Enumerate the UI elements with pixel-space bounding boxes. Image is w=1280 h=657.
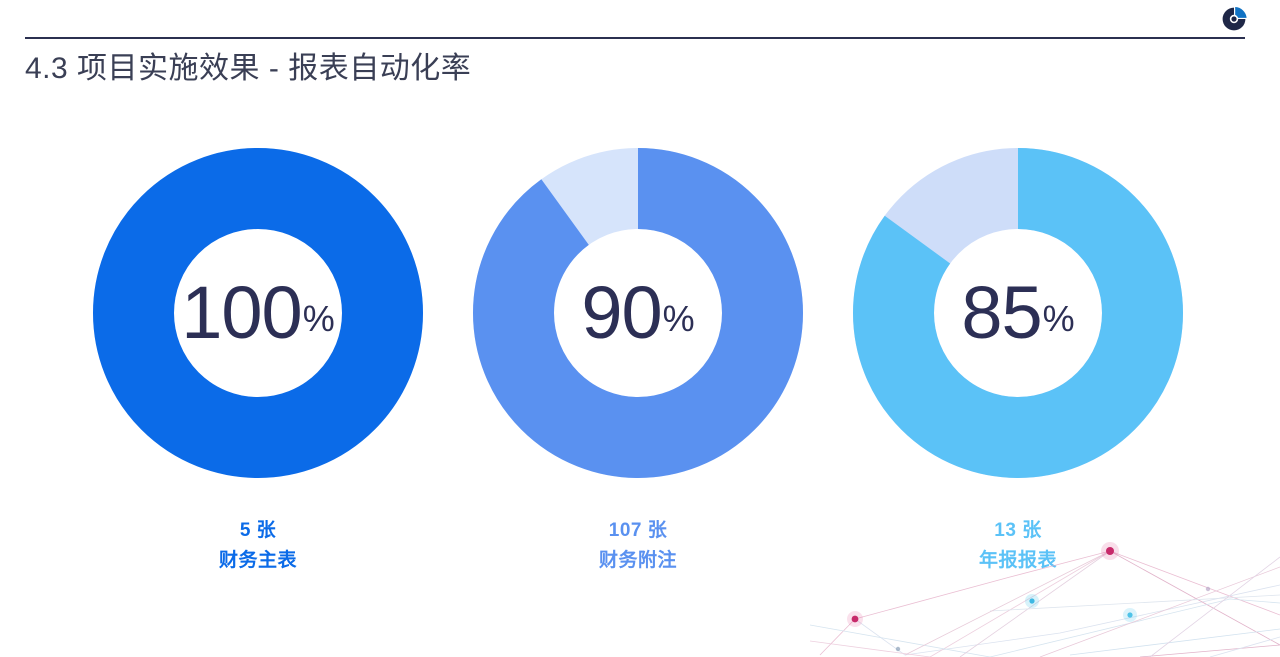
metric-caption-2: 107 张 财务附注 xyxy=(599,516,677,576)
slide-root: 4.3 项目实施效果 - 报表自动化率 100% 5 张 财务主表 xyxy=(0,0,1280,657)
metric-card-annual-report-statements: 85% 13 张 年报报表 xyxy=(828,148,1208,576)
metric-name-3: 年报报表 xyxy=(979,546,1057,576)
donut-chart-financial-notes: 90% xyxy=(473,148,803,478)
donut-arc-1 xyxy=(134,189,383,438)
metric-caption-3: 13 张 年报报表 xyxy=(979,516,1057,576)
metric-caption-1: 5 张 财务主表 xyxy=(219,516,297,576)
header-divider xyxy=(25,37,1245,39)
metric-card-financial-notes: 90% 107 张 财务附注 xyxy=(448,148,828,576)
metric-count-1: 5 张 xyxy=(219,516,297,546)
donut-chart-annual-report-statements: 85% xyxy=(853,148,1183,478)
pie-chart-logo-icon xyxy=(1221,6,1247,32)
donut-arc-2 xyxy=(514,189,763,438)
metric-name-2: 财务附注 xyxy=(599,546,677,576)
page-title: 4.3 项目实施效果 - 报表自动化率 xyxy=(25,49,471,89)
metric-card-financial-main-statements: 100% 5 张 财务主表 xyxy=(68,148,448,576)
metric-count-2: 107 张 xyxy=(599,516,677,546)
donut-chart-financial-main-statements: 100% xyxy=(93,148,423,478)
metric-name-1: 财务主表 xyxy=(219,546,297,576)
metrics-row: 100% 5 张 财务主表 90% 107 张 财务附注 xyxy=(0,148,1280,576)
metric-count-3: 13 张 xyxy=(979,516,1057,546)
